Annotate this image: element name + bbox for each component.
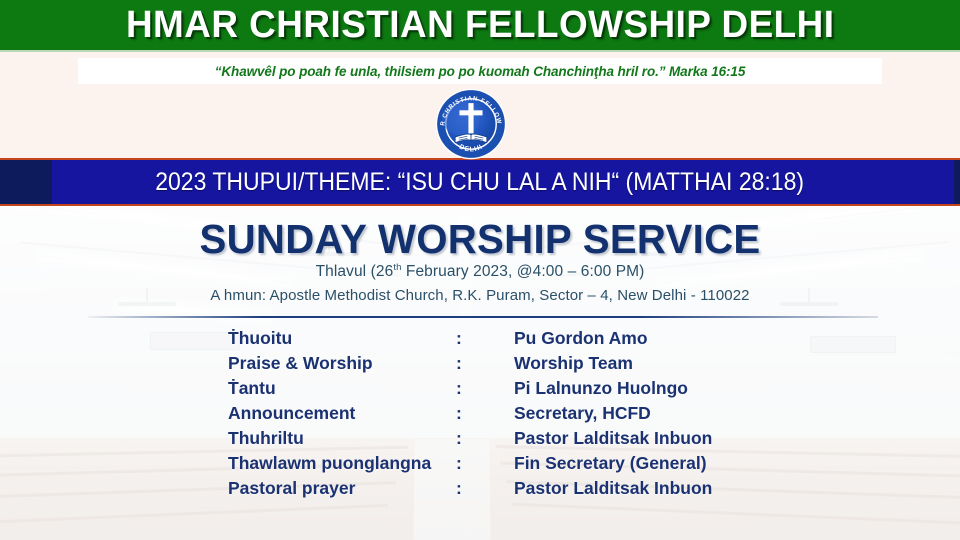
program-row-label: Thuhriltu bbox=[0, 428, 456, 449]
program-row-label: Ṫantu bbox=[0, 378, 456, 399]
program-row-separator: : bbox=[456, 353, 514, 374]
program-row: Announcement:Secretary, HCFD bbox=[0, 403, 960, 428]
program-row-value: Pastor Lalditsak Inbuon bbox=[514, 478, 712, 499]
scripture-verse-text: “Khawvêl po poah fe unla, thilsiem po po… bbox=[215, 64, 746, 79]
program-row-value: Secretary, HCFD bbox=[514, 403, 651, 424]
program-row: Ṫantu:Pi Lalnunzo Huolngo bbox=[0, 378, 960, 403]
program-row: Praise & Worship:Worship Team bbox=[0, 353, 960, 378]
program-row-label: Ṫhuoitu bbox=[0, 328, 456, 349]
program-row-separator: : bbox=[456, 453, 514, 474]
fellowship-logo: HMAR CHRISTIAN FELLOWSHIP DELHI bbox=[435, 88, 507, 160]
organization-title: HMAR CHRISTIAN FELLOWSHIP DELHI bbox=[126, 4, 835, 47]
program-row-separator: : bbox=[456, 378, 514, 399]
fellowship-logo-icon: HMAR CHRISTIAN FELLOWSHIP DELHI bbox=[435, 88, 507, 160]
program-row: Pastoral prayer:Pastor Lalditsak Inbuon bbox=[0, 478, 960, 503]
program-row-value: Pi Lalnunzo Huolngo bbox=[514, 378, 688, 399]
program-row-value: Pu Gordon Amo bbox=[514, 328, 648, 349]
program-row: Thuhriltu:Pastor Lalditsak Inbuon bbox=[0, 428, 960, 453]
program-row: Ṫhuoitu:Pu Gordon Amo bbox=[0, 328, 960, 353]
program-row-separator: : bbox=[456, 328, 514, 349]
program-row-separator: : bbox=[456, 478, 514, 499]
scripture-verse-box: “Khawvêl po poah fe unla, thilsiem po po… bbox=[78, 58, 882, 84]
poster-root: HMAR CHRISTIAN FELLOWSHIP DELHI “Khawvêl… bbox=[0, 0, 960, 540]
program-row-label: Thawlawm puonglangna bbox=[0, 453, 456, 474]
program-row-separator: : bbox=[456, 428, 514, 449]
service-title: SUNDAY WORSHIP SERVICE bbox=[10, 216, 951, 263]
program-row-label: Pastoral prayer bbox=[0, 478, 456, 499]
program-row-separator: : bbox=[456, 403, 514, 424]
date-suffix: February 2023, @4:00 – 6:00 PM) bbox=[401, 263, 644, 280]
program-row-value: Fin Secretary (General) bbox=[514, 453, 707, 474]
date-prefix: Thlavul (26 bbox=[316, 263, 394, 280]
header-bar: HMAR CHRISTIAN FELLOWSHIP DELHI bbox=[0, 0, 960, 52]
program-row-label: Announcement bbox=[0, 403, 456, 424]
service-datetime: Thlavul (26th February 2023, @4:00 – 6:0… bbox=[0, 262, 960, 281]
year-theme-banner: 2023 THUPUI/THEME: “ISU CHU LAL A NIH“ (… bbox=[0, 158, 960, 206]
program-row-value: Pastor Lalditsak Inbuon bbox=[514, 428, 712, 449]
program-row: Thawlawm puonglangna:Fin Secretary (Gene… bbox=[0, 453, 960, 478]
program-list: Ṫhuoitu:Pu Gordon AmoPraise & Worship:Wo… bbox=[0, 328, 960, 503]
program-row-value: Worship Team bbox=[514, 353, 633, 374]
program-row-label: Praise & Worship bbox=[0, 353, 456, 374]
service-venue: A hmun: Apostle Methodist Church, R.K. P… bbox=[0, 287, 960, 304]
year-theme-text: 2023 THUPUI/THEME: “ISU CHU LAL A NIH“ (… bbox=[156, 168, 805, 197]
main-content: SUNDAY WORSHIP SERVICE Thlavul (26th Feb… bbox=[0, 206, 960, 540]
section-divider bbox=[88, 316, 878, 318]
